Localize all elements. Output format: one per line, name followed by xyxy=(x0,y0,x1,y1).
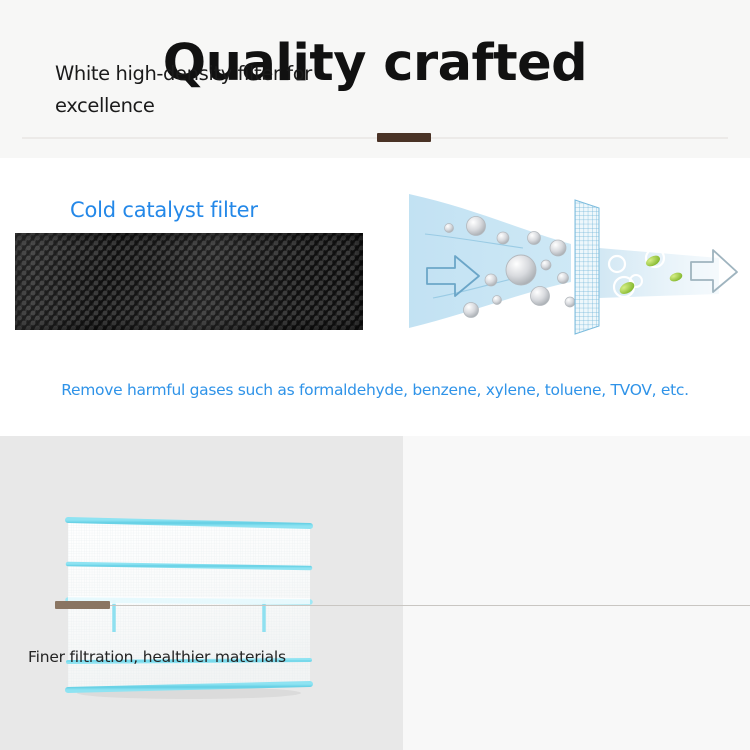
white-filter-text-panel xyxy=(403,436,750,750)
header-accent-bar xyxy=(377,133,431,142)
mesh-filter-screen xyxy=(575,200,599,334)
white-filter-image-panel xyxy=(0,436,403,750)
cold-catalyst-caption: Remove harmful gases such as formaldehyd… xyxy=(0,381,750,399)
cold-catalyst-section: Cold catalyst filter xyxy=(0,158,750,436)
header-divider xyxy=(22,137,728,139)
white-filter-accent-bar xyxy=(55,601,110,609)
white-filter-divider xyxy=(55,605,750,606)
white-filter-heading: White high-density filter for excellence xyxy=(55,58,335,122)
white-filter-subtext: Finer filtration, healthier materials xyxy=(28,648,286,666)
airflow-filtration-diagram xyxy=(403,186,741,336)
honeycomb-carbon-filter-strip xyxy=(15,233,363,330)
product-detail-page: Quality crafted Cold catalyst filter xyxy=(0,0,750,750)
cold-catalyst-title: Cold catalyst filter xyxy=(70,198,258,222)
carbon-strip-sheen xyxy=(15,233,363,330)
